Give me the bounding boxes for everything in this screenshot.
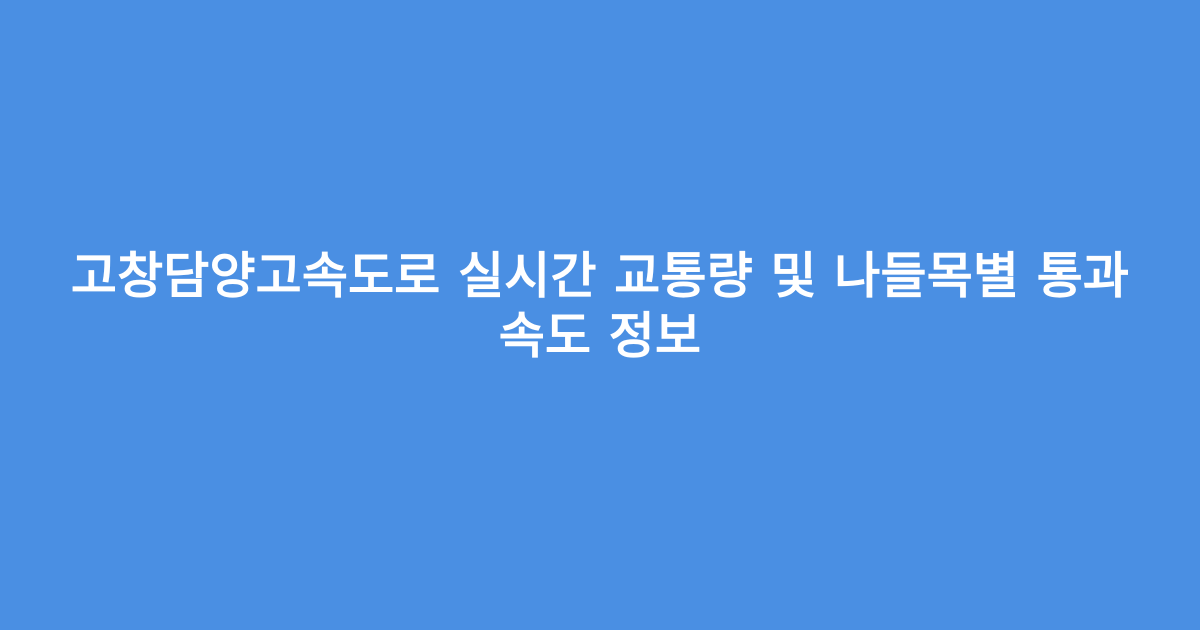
page-title: 고창담양고속도로 실시간 교통량 및 나들목별 통과 속도 정보 bbox=[68, 246, 1132, 366]
title-block: 고창담양고속도로 실시간 교통량 및 나들목별 통과 속도 정보 bbox=[50, 246, 1150, 366]
title-card: 고창담양고속도로 실시간 교통량 및 나들목별 통과 속도 정보 bbox=[0, 0, 1200, 630]
